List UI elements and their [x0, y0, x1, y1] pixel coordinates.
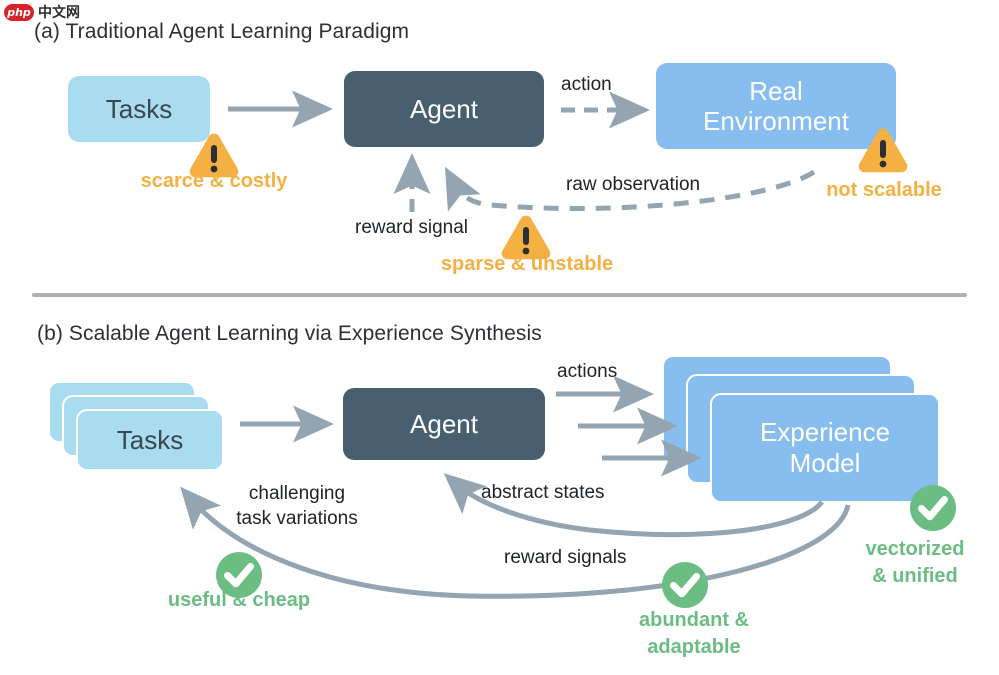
panel-divider	[32, 293, 967, 297]
panel-a-edge-raw-observation-label: raw observation	[566, 174, 700, 196]
watermark: php 中文网	[4, 2, 80, 22]
panel-b-tasks-label: Tasks	[117, 425, 183, 456]
panel-b-experience-label-line1: Experience	[760, 417, 890, 448]
panel-b-edge-abstract-states-label: abstract states	[481, 482, 605, 504]
panel-a-node-environment: Real Environment	[656, 63, 896, 149]
panel-b-abundant-line1: abundant &	[639, 607, 749, 634]
php-logo-icon: php	[4, 4, 34, 21]
panel-a-annotation-sparse-unstable: sparse & unstable	[441, 253, 613, 276]
panel-b-vectorized-line1: vectorized	[866, 536, 965, 563]
panel-b-experience-label-wrap: Experience Model	[710, 393, 940, 503]
panel-b-edge-reward-signals-label: reward signals	[504, 547, 627, 569]
panel-a-annotation-scarce-costly: scarce & costly	[141, 170, 288, 193]
panel-a-agent-label: Agent	[410, 94, 478, 124]
panel-b-edge-actions-label: actions	[557, 361, 617, 383]
panel-a-annotation-not-scalable: not scalable	[826, 179, 942, 202]
panel-b-annotation-useful-cheap: useful & cheap	[168, 589, 310, 612]
panel-a-node-tasks: Tasks	[68, 76, 210, 142]
panel-a-node-agent: Agent	[344, 71, 544, 147]
panel-b-title: (b) Scalable Agent Learning via Experien…	[37, 322, 542, 346]
panel-b-agent-label: Agent	[410, 409, 478, 439]
panel-b-abundant-line2: adaptable	[639, 634, 749, 661]
figure-canvas: php 中文网 (a) Traditional Agent Learning P…	[0, 0, 999, 675]
panel-a-environment-label-line2: Environment	[703, 106, 849, 136]
panel-a-tasks-label: Tasks	[106, 94, 172, 124]
watermark-text: 中文网	[38, 2, 80, 22]
panel-b-experience-label-line2: Model	[790, 448, 861, 479]
panel-a-edge-reward-signal-label: reward signal	[355, 217, 468, 239]
panel-b-task-variations-line2: task variations	[192, 507, 402, 532]
panel-a-title: (a) Traditional Agent Learning Paradigm	[34, 20, 409, 44]
panel-b-vectorized-line2: & unified	[866, 563, 965, 590]
panel-b-node-agent: Agent	[343, 388, 545, 460]
panel-a-edge-action-label: action	[561, 74, 612, 96]
panel-b-task-variations-line1: challenging	[192, 482, 402, 507]
panel-b-annotation-vectorized-unified: vectorized & unified	[866, 536, 965, 590]
panel-a-environment-label-line1: Real	[749, 76, 802, 106]
panel-b-annotation-abundant-adaptable: abundant & adaptable	[639, 607, 749, 661]
panel-b-tasks-label-wrap: Tasks	[76, 409, 224, 471]
panel-b-edge-task-variations-label: challenging task variations	[192, 482, 402, 531]
panel-b-reward-check-circle-icon	[662, 562, 708, 608]
